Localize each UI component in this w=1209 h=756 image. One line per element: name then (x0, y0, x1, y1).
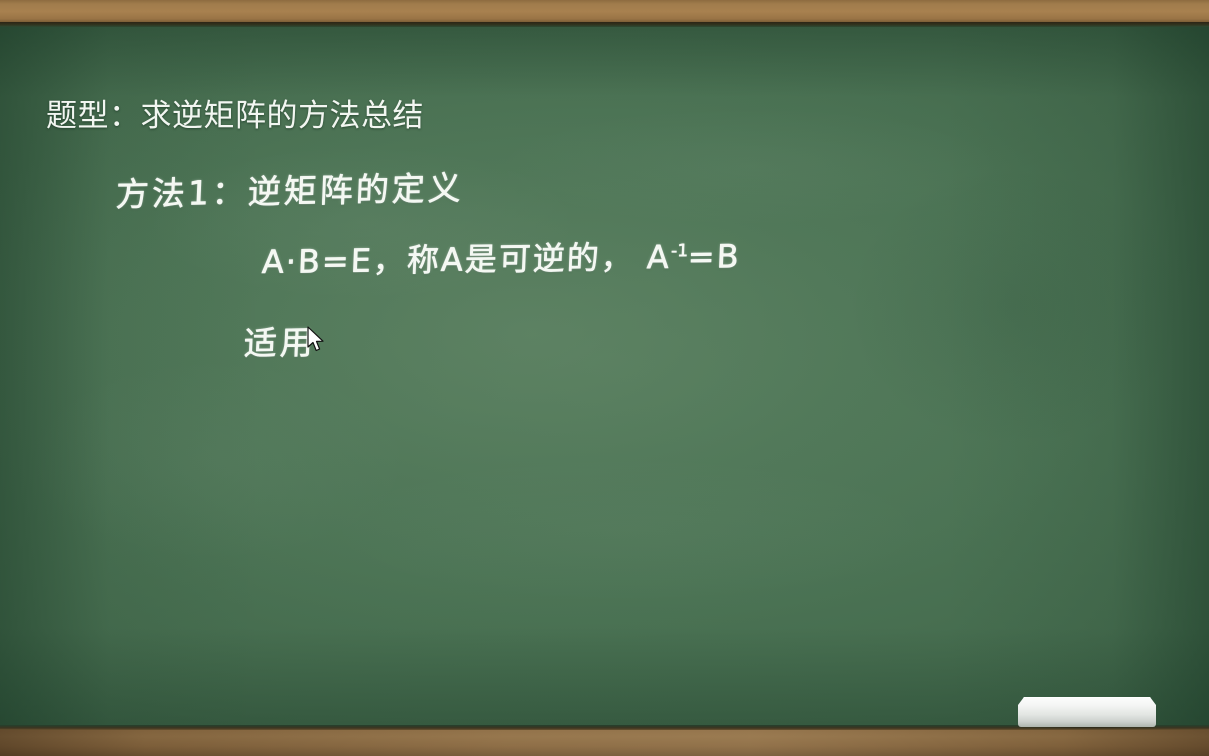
formula-prefix: A·B=E，称A是可逆的， A (261, 238, 672, 281)
chalkboard-surface: 题型：求逆矩阵的方法总结 方法1：逆矩阵的定义 A·B=E，称A是可逆的， A-… (0, 27, 1209, 725)
handwriting-line-formula: A·B=E，称A是可逆的， A-1=B (261, 231, 742, 283)
handwriting-line-method-1: 方法1：逆矩阵的定义 (115, 161, 465, 216)
eraser-body (1018, 697, 1156, 727)
chalk-tray (0, 730, 1209, 756)
board-content: 题型：求逆矩阵的方法总结 方法1：逆矩阵的定义 A·B=E，称A是可逆的， A-… (0, 27, 1209, 725)
chalkboard-screen: 题型：求逆矩阵的方法总结 方法1：逆矩阵的定义 A·B=E，称A是可逆的， A-… (0, 0, 1209, 756)
handwriting-line-applicable: 适用 (243, 316, 317, 365)
wooden-top-rail (0, 0, 1209, 22)
chalkboard-eraser[interactable] (1018, 697, 1156, 727)
formula-superscript: -1 (671, 241, 689, 261)
page-title: 题型：求逆矩阵的方法总结 (46, 97, 424, 135)
formula-suffix: =B (687, 237, 741, 276)
